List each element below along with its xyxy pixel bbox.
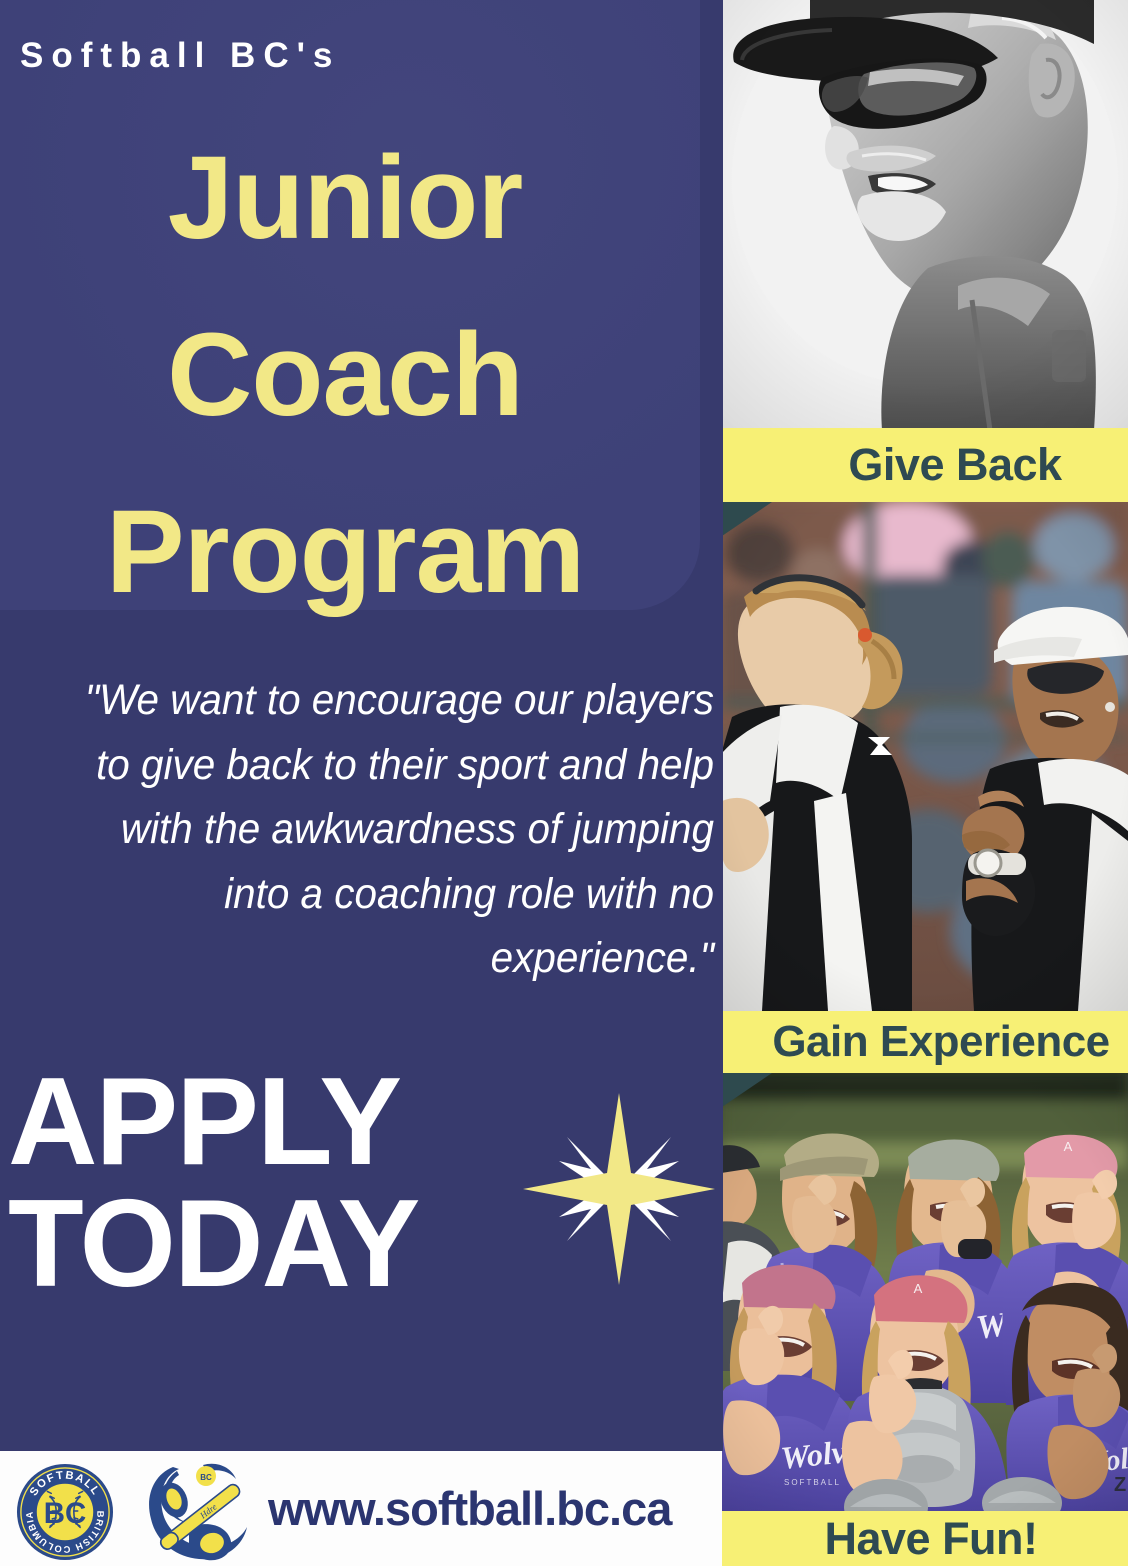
ribbon-tail-gain-experience: [722, 1073, 772, 1107]
photo-column: Wolves A: [722, 0, 1128, 1566]
pull-quote: "We want to encourage our players to giv…: [50, 668, 714, 991]
indigenous-formline-bat-logo-icon: BC Hdre: [143, 1459, 253, 1563]
coach-portrait-photo: [722, 0, 1128, 430]
website-url[interactable]: www.softball.bc.ca: [268, 1451, 671, 1566]
cta-line-2: TODAY: [8, 1184, 568, 1306]
star-burst-icon: [519, 1089, 719, 1289]
footer-bar: SOFTBALL BRITISH COLUMBIA BC: [0, 1451, 722, 1566]
softball-bc-roundel-icon: SOFTBALL BRITISH COLUMBIA BC: [16, 1463, 114, 1561]
page-title-line-2: Coach: [0, 287, 690, 464]
svg-text:BC: BC: [200, 1473, 212, 1482]
cta-line-1: APPLY: [8, 1062, 568, 1184]
ribbon-tail-give-back: [722, 502, 772, 536]
label-have-fun: Have Fun!: [722, 1511, 1128, 1566]
column-divider: [718, 0, 723, 1451]
label-give-back: Give Back: [722, 428, 1128, 502]
players-clapping-photo: [722, 501, 1128, 1011]
team-celebrating-photo: Wolves A: [722, 1071, 1128, 1511]
page-title-line-1: Junior: [0, 110, 690, 287]
kicker-text: Softball BC's: [20, 38, 340, 73]
label-gain-experience: Gain Experience: [722, 1011, 1128, 1073]
call-to-action-text: APPLY TODAY: [8, 1062, 568, 1305]
svg-text:BC: BC: [44, 1497, 86, 1530]
page-title-line-3: Program: [0, 464, 690, 641]
page-title: Junior Coach Program: [0, 110, 690, 641]
poster-canvas: Softball BC's Junior Coach Program "We w…: [0, 0, 1128, 1566]
left-content-panel: Softball BC's Junior Coach Program "We w…: [0, 0, 722, 1566]
